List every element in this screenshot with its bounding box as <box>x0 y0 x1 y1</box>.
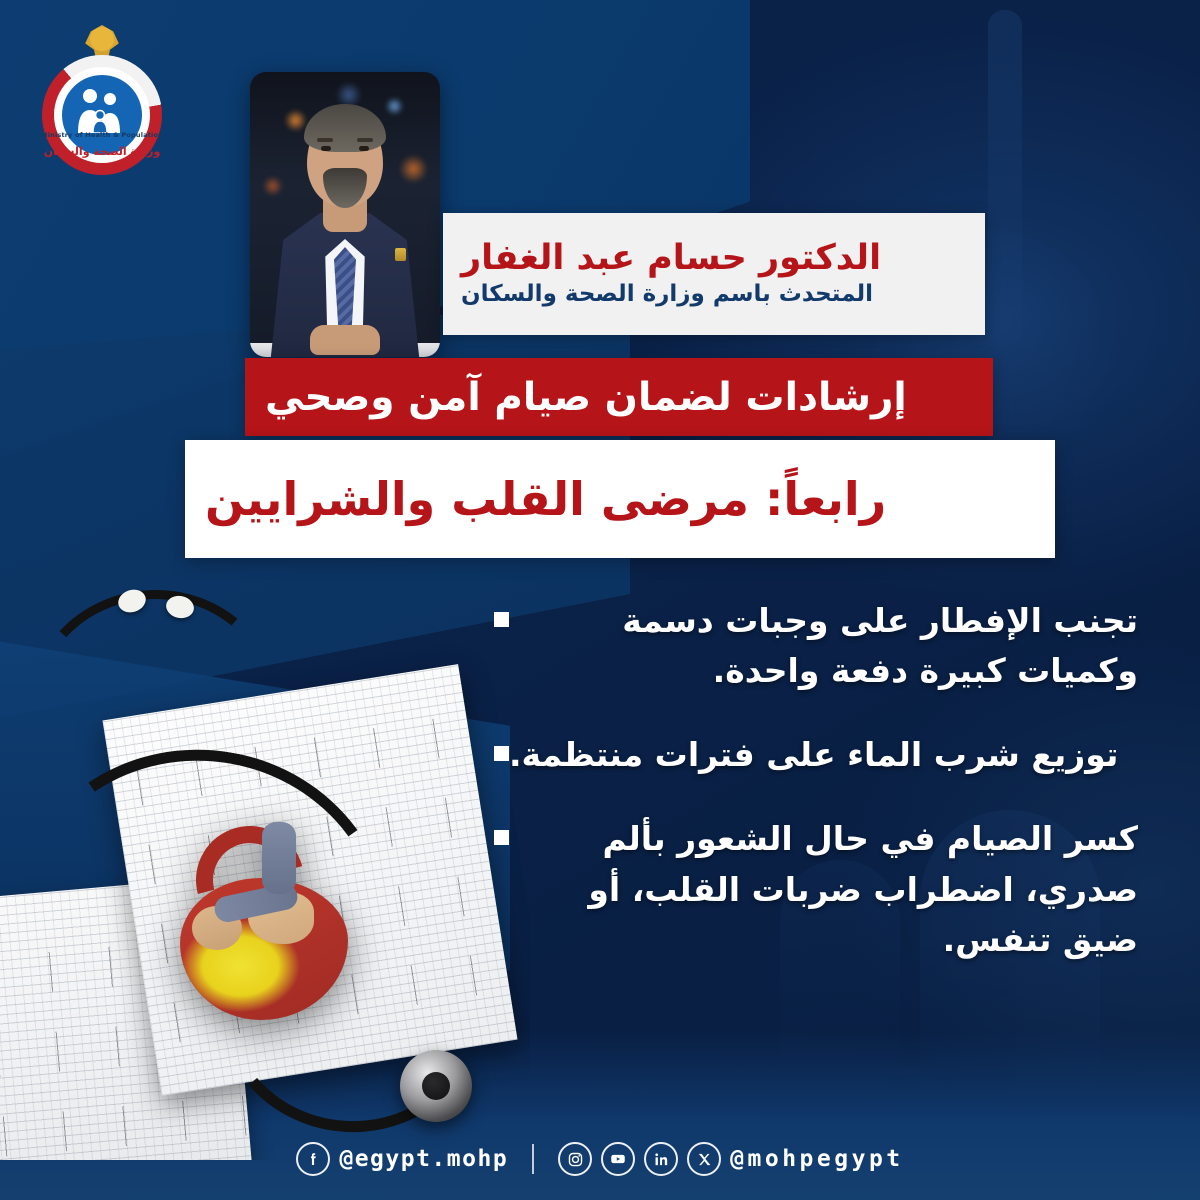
eyebrow-left <box>317 138 333 142</box>
advice-list: تجنب الإفطار على وجبات دسمة وكميات كبيرة… <box>478 596 1138 999</box>
stethoscope-earpiece-right <box>164 593 196 620</box>
section-banner: رابعاً: مرضى القلب والشرايين <box>185 440 1055 558</box>
list-item-text: كسر الصيام في حال الشعور بألم صدري، اضطر… <box>509 814 1138 964</box>
stethoscope-earpiece-left <box>115 586 148 616</box>
other-handle[interactable]: @mohpegypt <box>730 1146 903 1172</box>
heart-stethoscope-photo <box>0 560 530 1160</box>
list-item: توزيع شرب الماء على فترات منتظمة. <box>478 730 1138 780</box>
facebook-handle[interactable]: @egypt.mohp <box>339 1146 508 1172</box>
facebook-icon[interactable] <box>296 1142 330 1176</box>
other-socials-group[interactable]: @mohpegypt <box>558 1142 903 1176</box>
guidelines-banner: إرشادات لضمان صيام آمن وصحي <box>245 358 993 436</box>
footer-divider <box>532 1144 534 1174</box>
bullet-square-icon <box>494 746 509 761</box>
section-title: رابعاً: مرضى القلب والشرايين <box>205 476 886 522</box>
linkedin-icon[interactable] <box>644 1142 678 1176</box>
eyebrow-right <box>357 138 373 142</box>
social-footer: @egypt.mohp <box>0 1136 1200 1182</box>
eye-left <box>321 146 331 151</box>
x-icon[interactable] <box>687 1142 721 1176</box>
bullet-square-icon <box>494 830 509 845</box>
family-icon <box>76 87 128 133</box>
ministry-logo: Ministry of Health & Population وزارة ال… <box>38 25 166 165</box>
lapel-pin-icon <box>395 248 406 261</box>
stethoscope-chestpiece <box>400 1050 472 1122</box>
logo-english-label: Ministry of Health & Population <box>38 131 166 139</box>
list-item-text: تجنب الإفطار على وجبات دسمة وكميات كبيرة… <box>509 596 1138 696</box>
speaker-portrait <box>250 72 440 357</box>
guidelines-title: إرشادات لضمان صيام آمن وصحي <box>265 378 907 417</box>
logo-arabic-label: وزارة الصحة والسكان <box>38 145 166 158</box>
list-item: تجنب الإفطار على وجبات دسمة وكميات كبيرة… <box>478 596 1138 696</box>
anatomical-heart-model <box>170 820 360 1020</box>
youtube-icon[interactable] <box>601 1142 635 1176</box>
clasped-hands <box>310 325 380 355</box>
pulmonary-artery <box>262 822 296 894</box>
speaker-name: الدكتور حسام عبد الغفار <box>461 240 881 277</box>
eye-right <box>359 146 369 151</box>
speaker-role: المتحدث باسم وزارة الصحة والسكان <box>461 281 873 307</box>
speaker-name-banner: الدكتور حسام عبد الغفار المتحدث باسم وزا… <box>443 213 985 335</box>
instagram-icon[interactable] <box>558 1142 592 1176</box>
poster-root: Ministry of Health & Population وزارة ال… <box>0 0 1200 1200</box>
bullet-square-icon <box>494 612 509 627</box>
facebook-group[interactable]: @egypt.mohp <box>296 1142 508 1176</box>
list-item: كسر الصيام في حال الشعور بألم صدري، اضطر… <box>478 814 1138 964</box>
list-item-text: توزيع شرب الماء على فترات منتظمة. <box>509 730 1118 780</box>
